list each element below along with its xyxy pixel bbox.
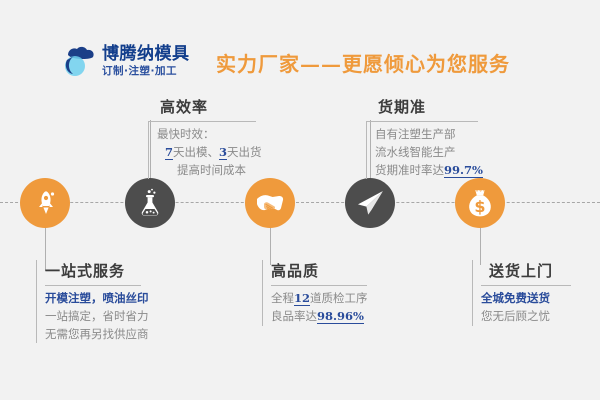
timeline-node-money-bag[interactable]: $ bbox=[455, 178, 505, 228]
brand-tagline: 订制·注塑·加工 bbox=[102, 66, 190, 77]
callout-line: 您无后顾之忧 bbox=[481, 308, 571, 326]
callout-high-quality: 高品质 全程12道质检工序 良品率达98.96% bbox=[262, 260, 368, 326]
handshake-icon bbox=[255, 190, 285, 216]
money-bag-icon: $ bbox=[466, 188, 494, 218]
callout-line: 全程12道质检工序 bbox=[271, 290, 368, 308]
brand-name: 博腾纳模具 bbox=[102, 46, 190, 63]
callout-line: 一站搞定，省时省力 bbox=[45, 308, 149, 326]
callout-line: 提高时间成本 bbox=[157, 162, 262, 180]
rocket-icon bbox=[31, 189, 59, 217]
svg-text:$: $ bbox=[474, 197, 485, 216]
callout-body: 全城免费送货 您无后顾之忧 bbox=[481, 286, 571, 326]
callout-line: 货期准时率达99.7% bbox=[375, 162, 483, 180]
stem-node-3 bbox=[270, 225, 271, 265]
callout-line: 开模注塑，喷油丝印 bbox=[45, 290, 149, 308]
callout-door-delivery: 送货上门 全城免费送货 您无后顾之忧 bbox=[472, 260, 571, 326]
callout-body: 开模注塑，喷油丝印 一站搞定，省时省力 无需您再另找供应商 bbox=[45, 286, 149, 343]
timeline-node-rocket[interactable] bbox=[20, 178, 70, 228]
page-headline: 实力厂家——更愿倾心为您服务 bbox=[216, 48, 510, 77]
callout-line: 最快时效： bbox=[157, 126, 262, 144]
callout-title: 一站式服务 bbox=[45, 260, 149, 285]
callout-title: 高效率 bbox=[148, 96, 262, 121]
callout-body: 自有注塑生产部 流水线智能生产 货期准时率达99.7% bbox=[366, 122, 483, 179]
timeline-node-flask[interactable] bbox=[125, 178, 175, 228]
callout-line: 无需您再另找供应商 bbox=[45, 326, 149, 344]
timeline-rail bbox=[0, 202, 600, 203]
flask-icon bbox=[136, 188, 164, 218]
callout-high-efficiency: 高效率 最快时效： 7天出模、3天出货 提高时间成本 bbox=[148, 96, 262, 179]
brand-logo: 博腾纳模具 订制·注塑·加工 bbox=[62, 44, 190, 78]
infographic-canvas: 博腾纳模具 订制·注塑·加工 实力厂家——更愿倾心为您服务 bbox=[0, 0, 600, 400]
callout-line: 7天出模、3天出货 bbox=[157, 144, 262, 162]
timeline-node-handshake[interactable] bbox=[245, 178, 295, 228]
callout-line: 全城免费送货 bbox=[481, 290, 571, 308]
callout-title: 货期准 bbox=[366, 96, 483, 121]
cloud-droplet-logo-icon bbox=[62, 44, 98, 78]
callout-body: 全程12道质检工序 良品率达98.96% bbox=[271, 286, 368, 326]
callout-line: 流水线智能生产 bbox=[375, 144, 483, 162]
stem-node-5 bbox=[480, 225, 481, 265]
timeline-node-paper-plane[interactable] bbox=[345, 178, 395, 228]
callout-title: 高品质 bbox=[271, 260, 368, 285]
callout-one-stop-service: 一站式服务 开模注塑，喷油丝印 一站搞定，省时省力 无需您再另找供应商 bbox=[36, 260, 149, 343]
callout-body: 最快时效： 7天出模、3天出货 提高时间成本 bbox=[148, 122, 262, 179]
callout-line: 良品率达98.96% bbox=[271, 308, 368, 326]
callout-title: 送货上门 bbox=[481, 260, 571, 285]
paper-plane-icon bbox=[355, 189, 385, 217]
callout-on-time-delivery: 货期准 自有注塑生产部 流水线智能生产 货期准时率达99.7% bbox=[366, 96, 483, 179]
callout-line: 自有注塑生产部 bbox=[375, 126, 483, 144]
